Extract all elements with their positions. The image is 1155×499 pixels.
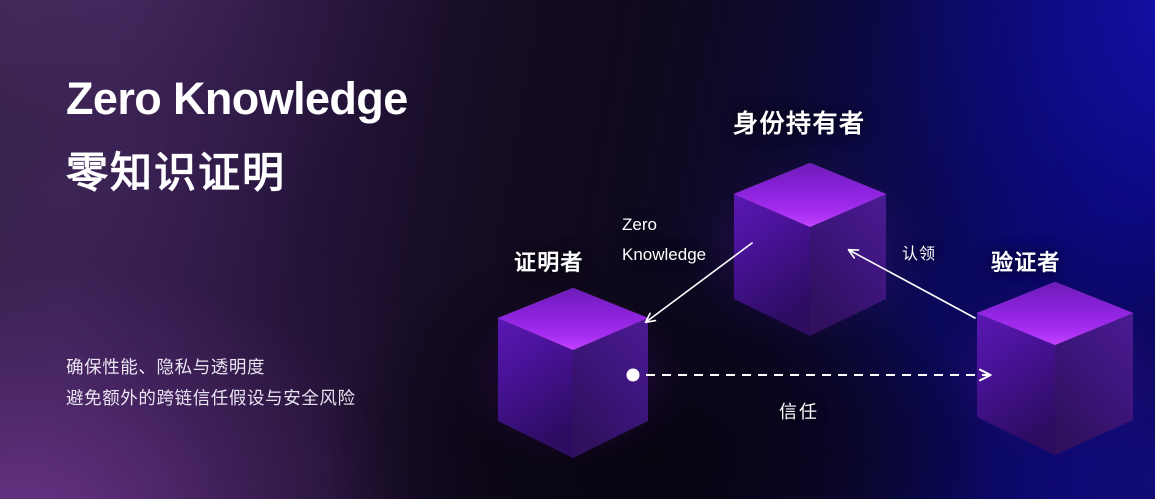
zero-knowledge-diagram: 身份持有者 证明者 验证者 Zero Knowledge 认领 信任 <box>0 0 1155 499</box>
edge-label-zero-knowledge-line-1: Zero <box>622 210 706 240</box>
edge-label-zero-knowledge: Zero Knowledge <box>622 210 706 270</box>
node-label-verifier: 验证者 <box>991 245 1061 277</box>
node-label-prover: 证明者 <box>514 245 584 277</box>
edge-label-trust: 信任 <box>779 398 819 424</box>
slide-canvas: Zero Knowledge 零知识证明 确保性能、隐私与透明度 避免额外的跨链… <box>0 0 1155 499</box>
edge-label-claim: 认领 <box>902 240 936 264</box>
edge-trust-origin-dot <box>627 369 640 382</box>
node-cube-holder[interactable] <box>734 163 886 336</box>
edge-label-zero-knowledge-line-2: Knowledge <box>622 240 706 270</box>
node-label-holder: 身份持有者 <box>733 104 866 140</box>
